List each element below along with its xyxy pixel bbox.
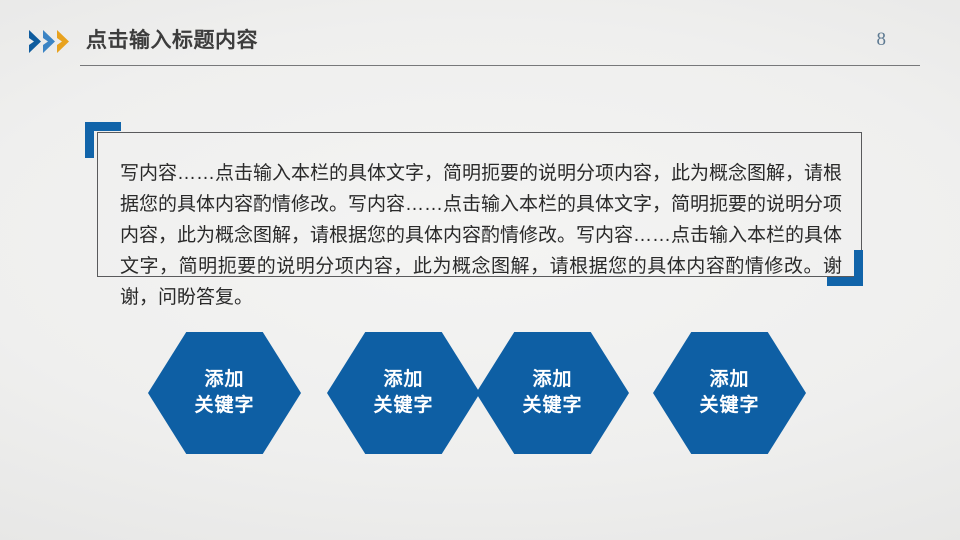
hexagon-keyword-3[interactable]: 添加 关键字 [476, 332, 629, 454]
hexagon-label-line2: 关键字 [699, 393, 759, 419]
slide-header: 点击输入标题内容 8 [0, 0, 960, 72]
hexagon-label-line1: 添加 [532, 367, 572, 393]
hexagon-row: 添加 关键字 添加 关键字 添加 关键字 添加 关键字 [0, 332, 960, 456]
hexagon-label-line1: 添加 [709, 367, 749, 393]
hexagon-keyword-2[interactable]: 添加 关键字 [327, 332, 480, 454]
hexagon-label-line2: 关键字 [522, 393, 582, 419]
chevron-group [28, 30, 84, 54]
hexagon-keyword-1[interactable]: 添加 关键字 [148, 332, 301, 454]
page-number: 8 [877, 29, 887, 51]
hexagon-label-line2: 关键字 [373, 393, 433, 419]
hexagon-keyword-4[interactable]: 添加 关键字 [653, 332, 806, 454]
header-divider [80, 65, 920, 66]
corner-bracket-top-left-icon [85, 122, 121, 158]
hexagon-label-line2: 关键字 [194, 393, 254, 419]
hexagon-label-line1: 添加 [204, 367, 244, 393]
chevron-right-icon-3 [56, 30, 72, 53]
page-title: 点击输入标题内容 [86, 24, 258, 54]
slide-canvas: 点击输入标题内容 8 写内容……点击输入本栏的具体文字，简明扼要的说明分项内容，… [0, 0, 960, 540]
body-paragraph: 写内容……点击输入本栏的具体文字，简明扼要的说明分项内容，此为概念图解，请根据您… [120, 158, 842, 313]
hexagon-label-line1: 添加 [383, 367, 423, 393]
